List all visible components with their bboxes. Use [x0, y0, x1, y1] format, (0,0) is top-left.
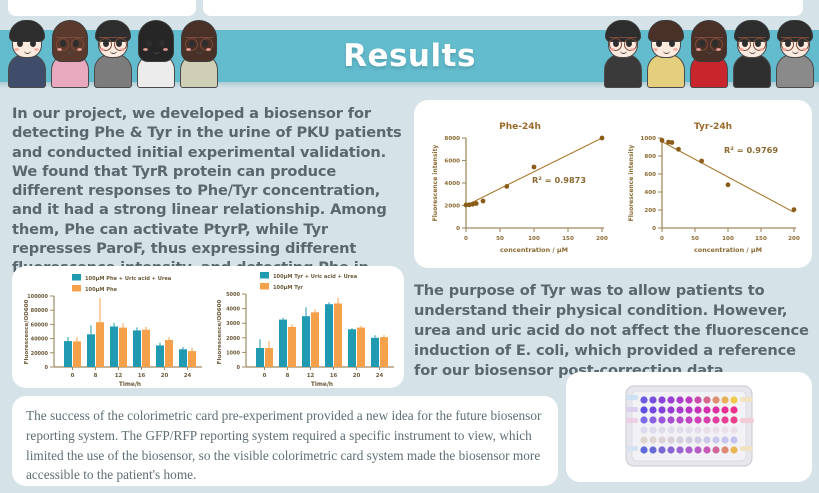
avatar	[133, 10, 179, 88]
svg-text:2000: 2000	[226, 336, 240, 342]
microplate-svg	[624, 380, 754, 472]
svg-text:6000: 6000	[444, 159, 460, 165]
svg-text:Time/h: Time/h	[119, 382, 141, 388]
svg-text:12: 12	[307, 373, 315, 379]
legend-phe-mixed: 100µM Phe + Uric acid + Urea	[85, 276, 172, 282]
svg-text:200: 200	[596, 236, 608, 242]
middle-paragraph: The purpose of Tyr was to allow patients…	[414, 281, 812, 381]
chart-phe-svg: 02000 40006000 8000 050100 150200	[424, 106, 616, 262]
chart-tyr-bars: 100µM Tyr + Uric acid + Urea 100µM Tyr 0…	[210, 266, 402, 388]
legend-phe-only: 100µM Phe	[85, 287, 118, 293]
svg-text:16: 16	[330, 373, 338, 379]
chart-phe-r2: R² = 0.9873	[532, 175, 586, 185]
microplate-card	[566, 372, 812, 482]
chart-phe-24h: Phe-24h 02000 40006000 8000	[424, 106, 616, 262]
svg-text:8000: 8000	[444, 136, 460, 142]
svg-text:80000: 80000	[31, 308, 49, 314]
svg-text:600: 600	[644, 172, 656, 178]
svg-text:concentration / µM: concentration / µM	[500, 246, 568, 254]
svg-text:4000: 4000	[226, 307, 240, 313]
svg-text:100: 100	[722, 236, 734, 242]
svg-text:0: 0	[71, 373, 75, 379]
svg-text:16: 16	[138, 373, 146, 379]
svg-text:Fluorescence intensity: Fluorescence intensity	[628, 145, 635, 222]
svg-text:0: 0	[263, 373, 267, 379]
svg-text:8: 8	[94, 373, 98, 379]
chart-tyr-r2: R² = 0.9769	[724, 145, 778, 155]
svg-text:150: 150	[755, 236, 767, 242]
svg-text:20000: 20000	[31, 351, 49, 357]
svg-text:Fluorescence/OD600: Fluorescence/OD600	[24, 300, 30, 365]
svg-text:Fluorescence/OD600: Fluorescence/OD600	[217, 300, 223, 365]
svg-text:200: 200	[788, 236, 800, 242]
svg-text:150: 150	[562, 236, 574, 242]
avatar	[176, 10, 222, 88]
avatar	[600, 10, 646, 88]
conclusion-card: The success of the colorimetric card pre…	[12, 396, 558, 486]
svg-text:2000: 2000	[444, 204, 460, 210]
conclusion-paragraph: The success of the colorimetric card pre…	[26, 406, 546, 485]
svg-text:24: 24	[376, 373, 384, 379]
chart-phe-bars: 100µM Phe + Uric acid + Urea 100µM Phe 0…	[14, 266, 210, 388]
svg-text:400: 400	[644, 190, 656, 196]
avatar	[643, 10, 689, 88]
svg-text:Fluorescence intensity: Fluorescence intensity	[432, 145, 439, 222]
chart-tyr-svg: 0200400 6008001000 050100 150200	[620, 106, 806, 262]
results-poster: Results	[0, 0, 819, 493]
svg-text:0: 0	[652, 226, 656, 232]
svg-text:800: 800	[644, 154, 656, 160]
svg-text:12: 12	[115, 373, 123, 379]
avatar	[4, 10, 50, 88]
svg-text:50: 50	[496, 236, 504, 242]
avatar	[729, 10, 775, 88]
svg-text:20: 20	[353, 373, 361, 379]
svg-text:1000: 1000	[640, 136, 656, 142]
microplate-photo	[624, 380, 754, 472]
svg-text:Time/h: Time/h	[311, 382, 333, 388]
svg-text:0: 0	[237, 365, 241, 371]
linear-charts-card: Phe-24h 02000 40006000 8000	[414, 100, 812, 268]
svg-text:200: 200	[644, 208, 656, 214]
avatar	[772, 10, 818, 88]
svg-text:100000: 100000	[27, 294, 48, 300]
legend-tyr-only: 100µM Tyr	[273, 285, 303, 291]
chart-tyr-bars-svg: 100µM Tyr + Uric acid + Urea 100µM Tyr 0…	[210, 266, 402, 388]
svg-text:0: 0	[456, 226, 460, 232]
svg-text:concentration / µM: concentration / µM	[694, 246, 762, 254]
svg-text:3000: 3000	[226, 321, 240, 327]
svg-text:50: 50	[691, 236, 699, 242]
svg-text:100: 100	[528, 236, 540, 242]
avatar	[90, 10, 136, 88]
svg-text:0: 0	[45, 365, 49, 371]
svg-text:5000: 5000	[226, 292, 240, 298]
avatar	[686, 10, 732, 88]
chart-tyr-24h: Tyr-24h 0200400 6008001000	[620, 106, 806, 262]
chart-phe-bars-svg: 100µM Phe + Uric acid + Urea 100µM Phe 0…	[14, 266, 210, 388]
svg-text:1000: 1000	[226, 350, 240, 356]
team-illustration-left	[4, 8, 219, 88]
svg-text:60000: 60000	[31, 322, 49, 328]
svg-text:8: 8	[286, 373, 290, 379]
svg-text:4000: 4000	[444, 181, 460, 187]
team-illustration-right	[600, 8, 815, 88]
avatar	[47, 10, 93, 88]
svg-text:40000: 40000	[31, 337, 49, 343]
svg-text:24: 24	[184, 373, 192, 379]
bar-charts-card: 100µM Phe + Uric acid + Urea 100µM Phe 0…	[12, 266, 404, 388]
legend-tyr-mixed: 100µM Tyr + Uric acid + Urea	[273, 274, 358, 280]
svg-text:0: 0	[464, 236, 468, 242]
svg-text:0: 0	[660, 236, 664, 242]
svg-text:20: 20	[161, 373, 169, 379]
